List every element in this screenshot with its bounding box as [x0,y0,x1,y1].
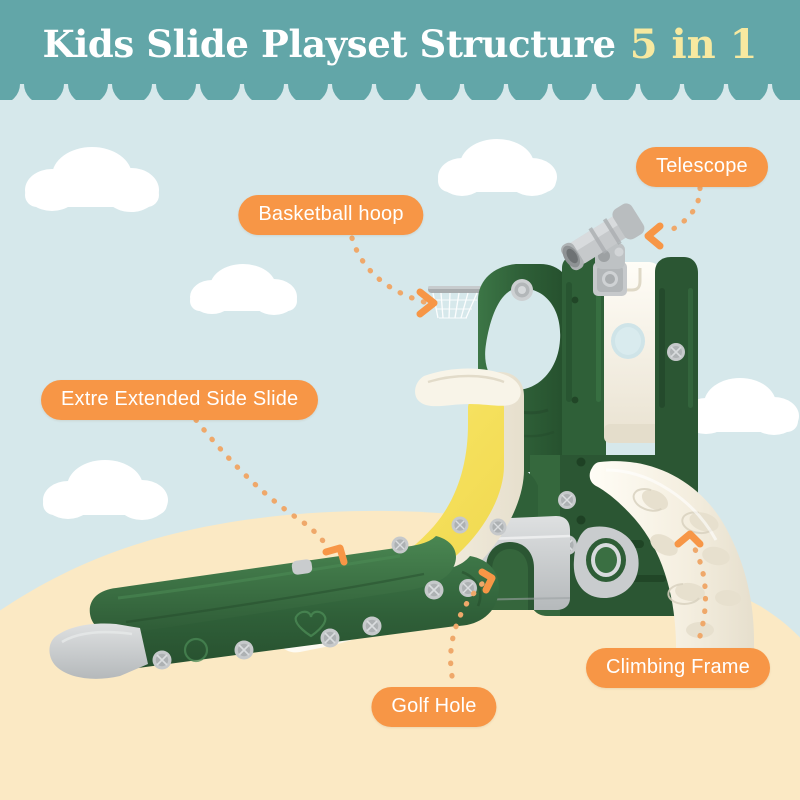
arrowhead-slide [326,548,344,562]
connector-basketball [352,238,424,302]
connector-slide [196,420,334,562]
label-side-slide[interactable]: Extre Extended Side Slide [41,380,318,420]
label-climbing-frame[interactable]: Climbing Frame [586,648,770,688]
arrowhead-golf [482,572,492,590]
connector-telescope [668,188,700,232]
arrowhead-climb [678,534,700,544]
arrowhead-telescope [648,226,660,246]
label-golf-hole[interactable]: Golf Hole [371,687,496,727]
connector-climb [690,540,705,636]
infographic-canvas: Kids Slide Playset Structure 5 in 1 [0,0,800,800]
connector-golf [451,580,486,676]
label-telescope[interactable]: Telescope [636,147,768,187]
label-basketball-hoop[interactable]: Basketball hoop [238,195,423,235]
